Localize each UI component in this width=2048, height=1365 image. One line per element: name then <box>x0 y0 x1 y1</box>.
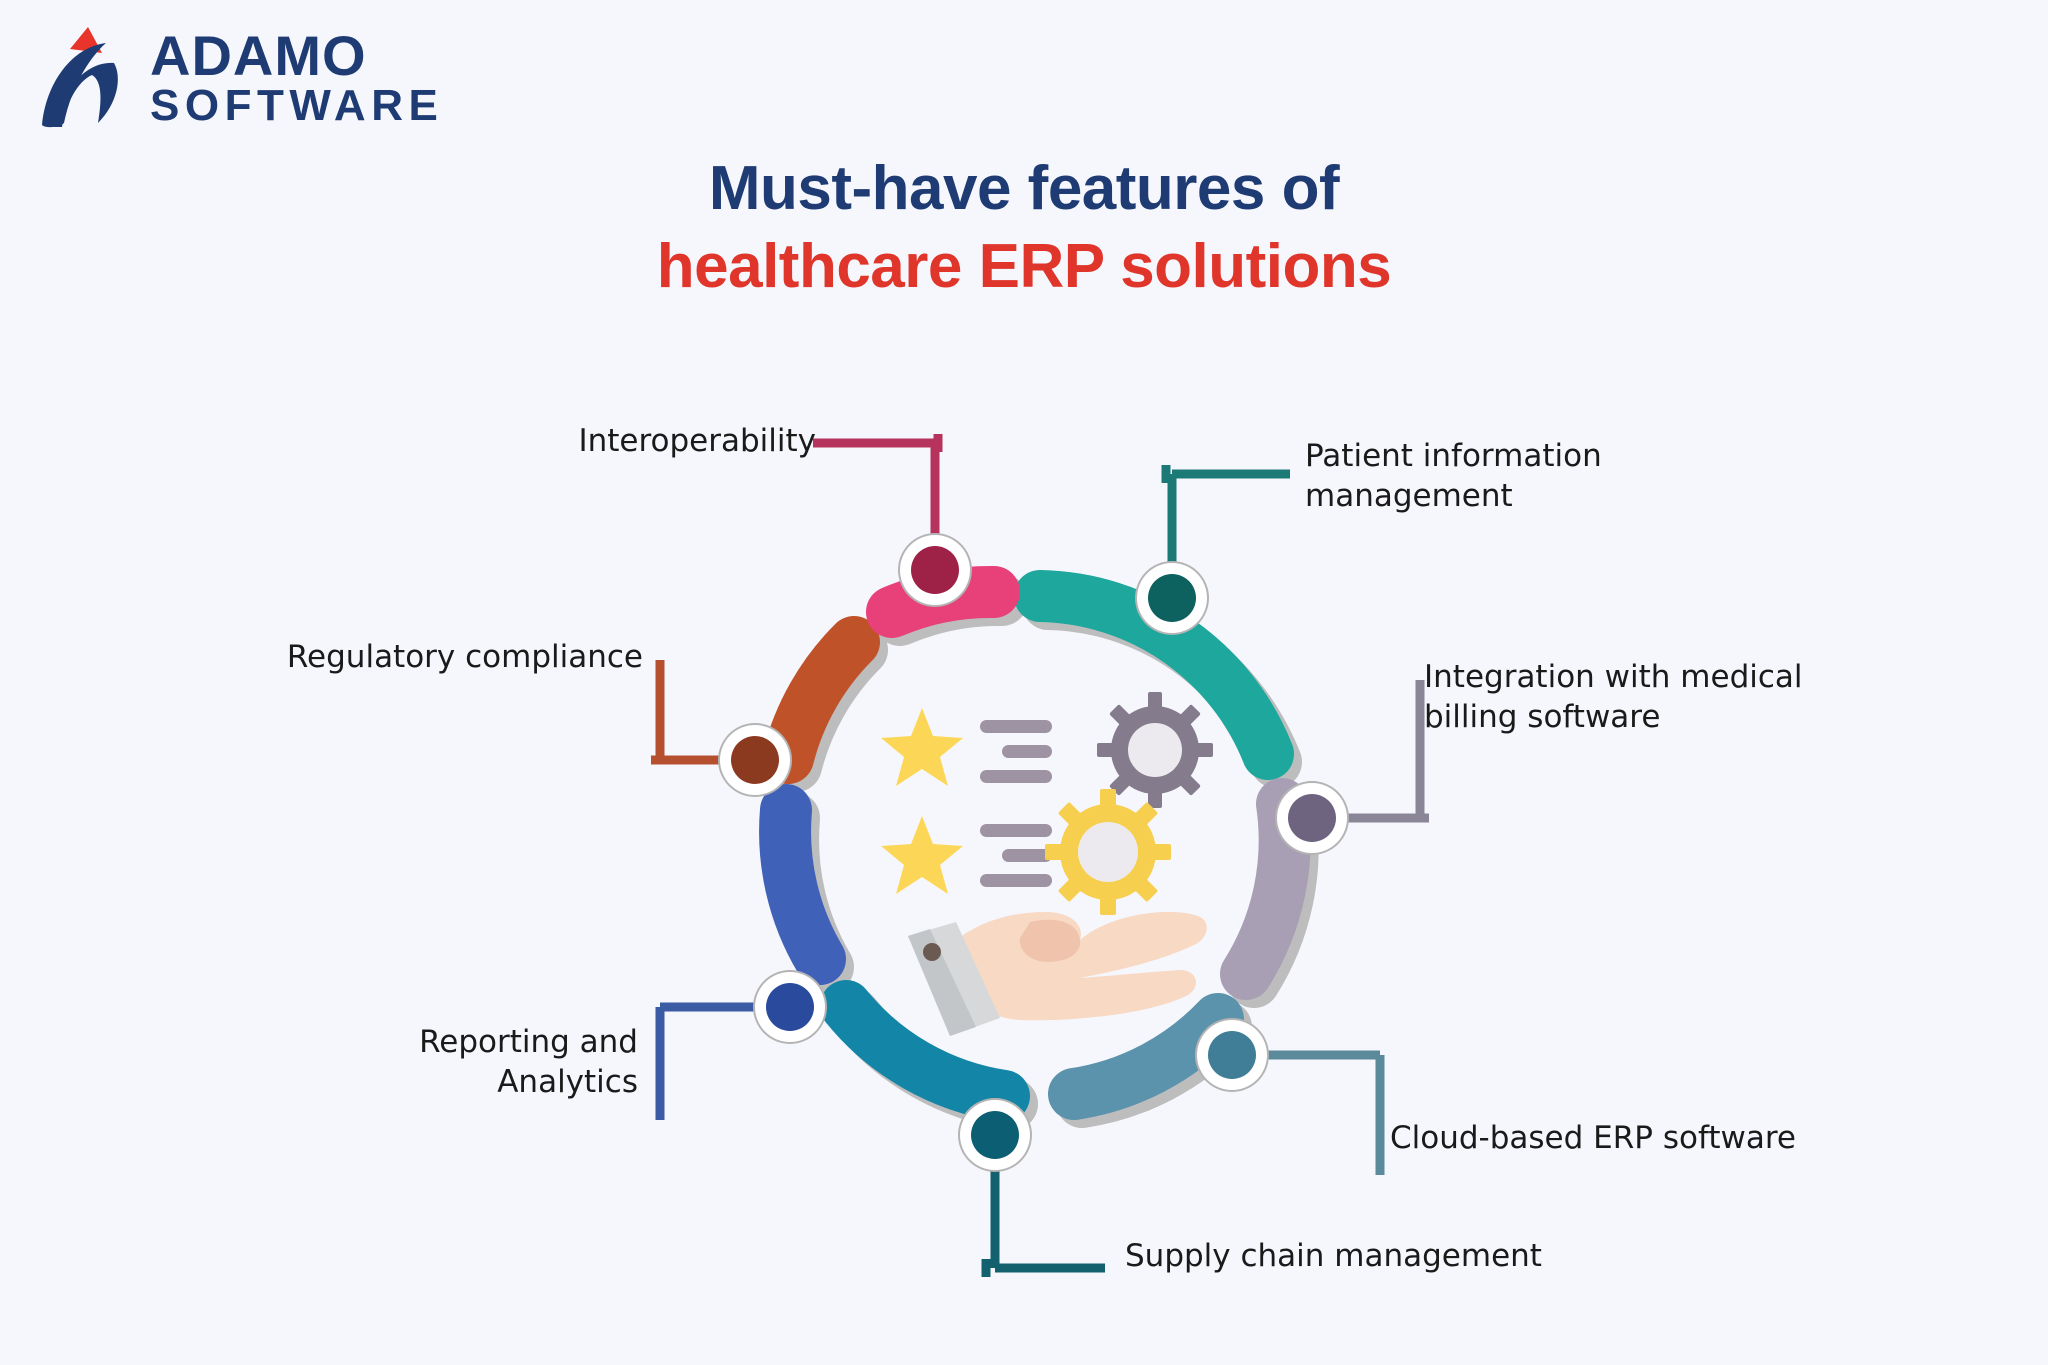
label-interoperability[interactable]: Interoperability <box>396 421 816 461</box>
label-supply-chain-management[interactable]: Supply chain management <box>1125 1236 1595 1276</box>
node-cloud-based-erp-software[interactable] <box>1195 1018 1269 1092</box>
node-supply-chain-management[interactable] <box>958 1098 1032 1172</box>
text-bars-2 <box>980 824 1052 887</box>
node-reporting-and-analytics[interactable] <box>753 970 827 1044</box>
text-bars-1 <box>980 720 1052 783</box>
label-integration-with-medical-billing-software[interactable]: Integration with medical billing softwar… <box>1424 657 1874 738</box>
label-regulatory-compliance[interactable]: Regulatory compliance <box>163 637 643 677</box>
label-cloud-based-erp-software[interactable]: Cloud-based ERP software <box>1390 1118 1870 1158</box>
star-icon-2 <box>881 816 963 894</box>
infographic-canvas: ADAMO SOFTWARE Must-have features of hea… <box>0 0 2048 1365</box>
node-patient-information-management[interactable] <box>1135 561 1209 635</box>
open-hand-icon <box>908 912 1207 1036</box>
node-interoperability[interactable] <box>898 533 972 607</box>
gear-icon-yellow <box>1045 789 1171 915</box>
node-integration-with-medical-billing-software[interactable] <box>1275 781 1349 855</box>
label-reporting-and-analytics[interactable]: Reporting and Analytics <box>238 1022 638 1103</box>
node-regulatory-compliance[interactable] <box>718 723 792 797</box>
star-icon-1 <box>881 708 963 786</box>
label-patient-information-management[interactable]: Patient information management <box>1305 436 1735 517</box>
hand-holding-settings-icon <box>881 692 1213 1036</box>
ring-segments <box>785 592 1285 1096</box>
